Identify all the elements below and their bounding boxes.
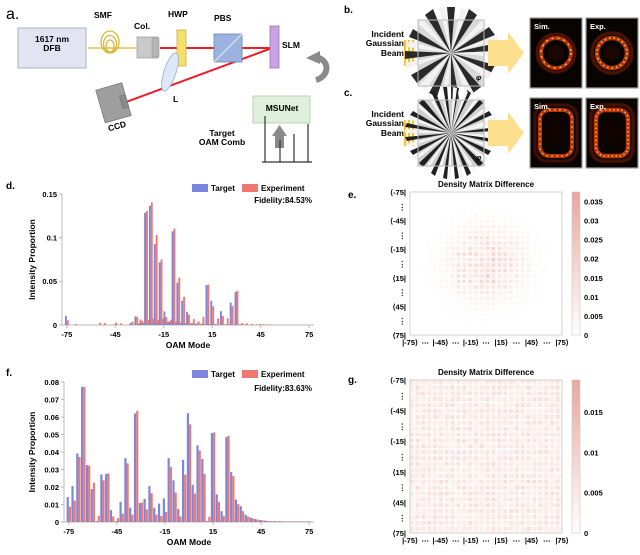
heatmap-cell bbox=[501, 313, 504, 316]
heatmap-cell bbox=[518, 471, 521, 474]
heatmap-cell bbox=[436, 492, 439, 495]
heatmap-cell bbox=[471, 313, 474, 316]
heatmap-cell bbox=[463, 236, 466, 239]
heatmap-cell bbox=[492, 512, 495, 515]
heatmap-cell bbox=[480, 406, 483, 409]
heatmap-cell bbox=[518, 433, 521, 436]
bar-experiment bbox=[217, 318, 219, 325]
heatmap-cell bbox=[442, 291, 445, 294]
heatmap-cell bbox=[463, 231, 466, 234]
heatmap-cell bbox=[477, 239, 480, 242]
heatmap-cell bbox=[448, 471, 451, 474]
heatmap-cell bbox=[471, 302, 474, 305]
heatmap-cell bbox=[416, 462, 419, 465]
heatmap-cell bbox=[533, 383, 536, 386]
heatmap-cell bbox=[483, 272, 486, 275]
heatmap-cell bbox=[445, 515, 448, 518]
heatmap-cell bbox=[460, 504, 463, 507]
heatmap-cell bbox=[471, 404, 474, 407]
heatmap-x-tick-label: |15⟩ bbox=[495, 338, 508, 347]
heatmap-cell bbox=[413, 424, 416, 427]
heatmap-cell bbox=[454, 524, 457, 527]
heatmap-cell bbox=[480, 415, 483, 418]
heatmap-cell bbox=[474, 515, 477, 518]
heatmap-cell bbox=[506, 436, 509, 439]
bar-target bbox=[113, 324, 115, 325]
heatmap-cell bbox=[509, 495, 512, 498]
heatmap-cell bbox=[425, 498, 428, 501]
heatmap-cell bbox=[509, 468, 512, 471]
heatmap-cell bbox=[451, 272, 454, 275]
heatmap-cell bbox=[416, 401, 419, 404]
heatmap-cell bbox=[530, 409, 533, 412]
heatmap-cell bbox=[477, 250, 480, 253]
heatmap-cell bbox=[454, 220, 457, 223]
heatmap-cell bbox=[466, 291, 469, 294]
heatmap-cell bbox=[483, 258, 486, 261]
heatmap-cell bbox=[542, 527, 545, 530]
heatmap-cell bbox=[457, 253, 460, 256]
heatmap-cell bbox=[439, 465, 442, 468]
heatmap-cell bbox=[425, 489, 428, 492]
heatmap-cell bbox=[474, 395, 477, 398]
heatmap-cell bbox=[451, 477, 454, 480]
heatmap-cell bbox=[501, 462, 504, 465]
heatmap-cell bbox=[410, 412, 413, 415]
bar-experiment bbox=[107, 473, 109, 522]
heatmap-cell bbox=[460, 412, 463, 415]
heatmap-cell bbox=[471, 225, 474, 228]
heatmap-cell bbox=[498, 504, 501, 507]
heatmap-cell bbox=[463, 225, 466, 228]
heatmap-cell bbox=[501, 477, 504, 480]
heatmap-cell bbox=[428, 258, 431, 261]
heatmap-cell bbox=[474, 392, 477, 395]
heatmap-cell bbox=[556, 386, 559, 389]
heatmap-cell bbox=[451, 418, 454, 421]
heatmap-cell bbox=[471, 228, 474, 231]
heatmap-cell bbox=[445, 430, 448, 433]
heatmap-cell bbox=[524, 269, 527, 272]
heatmap-cell bbox=[495, 272, 498, 275]
heatmap-cell bbox=[477, 451, 480, 454]
heatmap-cell bbox=[445, 521, 448, 524]
heatmap-cell bbox=[445, 468, 448, 471]
heatmap-cell bbox=[550, 471, 553, 474]
heatmap-cell bbox=[413, 451, 416, 454]
heatmap-cell bbox=[466, 220, 469, 223]
heatmap-cell bbox=[419, 442, 422, 445]
heatmap-cell bbox=[480, 291, 483, 294]
heatmap-cell bbox=[445, 233, 448, 236]
heatmap-cell bbox=[530, 255, 533, 258]
heatmap-cell bbox=[445, 283, 448, 286]
heatmap-cell bbox=[454, 492, 457, 495]
y-tick-label: 0 bbox=[55, 518, 59, 527]
heatmap-cell bbox=[501, 280, 504, 283]
heatmap-cell bbox=[430, 418, 433, 421]
heatmap-cell bbox=[524, 489, 527, 492]
heatmap-cell bbox=[468, 480, 471, 483]
heatmap-cell bbox=[539, 297, 542, 300]
heatmap-cell bbox=[451, 380, 454, 383]
bar-target bbox=[163, 498, 165, 522]
heatmap-cell bbox=[527, 404, 530, 407]
heatmap-cell bbox=[483, 220, 486, 223]
heatmap-cell bbox=[419, 498, 422, 501]
heatmap-cell bbox=[457, 244, 460, 247]
heatmap-cell bbox=[515, 501, 518, 504]
heatmap-cell bbox=[448, 512, 451, 515]
heatmap-cell bbox=[506, 512, 509, 515]
heatmap-cell bbox=[492, 209, 495, 212]
heatmap-cell bbox=[454, 389, 457, 392]
heatmap-cell bbox=[483, 209, 486, 212]
heatmap-cell bbox=[468, 220, 471, 223]
heatmap-y-tick-label: ⋮ bbox=[399, 202, 407, 211]
legend-label-experiment: Experiment bbox=[261, 370, 305, 379]
heatmap-cell bbox=[527, 406, 530, 409]
bar-target bbox=[110, 510, 112, 522]
heatmap-cell bbox=[509, 404, 512, 407]
heatmap-cell bbox=[542, 509, 545, 512]
heatmap-cell bbox=[492, 275, 495, 278]
heatmap-cell bbox=[506, 404, 509, 407]
heatmap-cell bbox=[454, 430, 457, 433]
heatmap-cell bbox=[451, 480, 454, 483]
heatmap-cell bbox=[501, 239, 504, 242]
heatmap-cell bbox=[498, 291, 501, 294]
heatmap-cell bbox=[442, 515, 445, 518]
heatmap-cell bbox=[439, 498, 442, 501]
heatmap-cell bbox=[524, 492, 527, 495]
heatmap-cell bbox=[536, 471, 539, 474]
heatmap-cell bbox=[533, 521, 536, 524]
heatmap-cell bbox=[419, 459, 422, 462]
heatmap-cell bbox=[492, 477, 495, 480]
heatmap-cell bbox=[524, 498, 527, 501]
heatmap-cell bbox=[439, 231, 442, 234]
heatmap-cell bbox=[413, 504, 416, 507]
heatmap-cell bbox=[533, 404, 536, 407]
heatmap-cell bbox=[454, 465, 457, 468]
heatmap-cell bbox=[550, 457, 553, 460]
heatmap-cell bbox=[445, 383, 448, 386]
heatmap-cell bbox=[410, 468, 413, 471]
bar-target bbox=[142, 324, 144, 325]
heatmap-cell bbox=[463, 489, 466, 492]
heatmap-cell bbox=[509, 225, 512, 228]
heatmap-cell bbox=[466, 451, 469, 454]
heatmap-cell bbox=[468, 398, 471, 401]
heatmap-cell bbox=[451, 430, 454, 433]
heatmap-cell bbox=[527, 392, 530, 395]
heatmap-cell bbox=[544, 404, 547, 407]
heatmap-cell bbox=[524, 427, 527, 430]
heatmap-cell bbox=[492, 474, 495, 477]
heatmap-cell bbox=[480, 266, 483, 269]
bar-experiment bbox=[256, 324, 258, 325]
heatmap-cell bbox=[433, 495, 436, 498]
heatmap-cell bbox=[466, 395, 469, 398]
heatmap-cell bbox=[486, 294, 489, 297]
heatmap-cell bbox=[509, 451, 512, 454]
heatmap-cell bbox=[454, 236, 457, 239]
heatmap-cell bbox=[439, 392, 442, 395]
heatmap-cell bbox=[515, 264, 518, 267]
bar-experiment bbox=[276, 521, 278, 522]
heatmap-cell bbox=[468, 427, 471, 430]
heatmap-cell bbox=[509, 253, 512, 256]
heatmap-cell bbox=[477, 299, 480, 302]
heatmap-cell bbox=[480, 214, 483, 217]
x-tick-label: 45 bbox=[257, 330, 265, 339]
heatmap-cell bbox=[468, 433, 471, 436]
heatmap-cell bbox=[463, 275, 466, 278]
heatmap-cell bbox=[445, 308, 448, 311]
heatmap-cell bbox=[527, 498, 530, 501]
heatmap-cell bbox=[454, 297, 457, 300]
bar-experiment bbox=[165, 512, 167, 522]
heatmap-cell bbox=[466, 498, 469, 501]
heatmap-cell bbox=[509, 521, 512, 524]
heatmap-cell bbox=[474, 291, 477, 294]
heatmap-cell bbox=[413, 524, 416, 527]
heatmap-cell bbox=[495, 498, 498, 501]
heatmap-cell bbox=[542, 427, 545, 430]
heatmap-cell bbox=[483, 244, 486, 247]
heatmap-cell bbox=[498, 395, 501, 398]
heatmap-cell bbox=[495, 474, 498, 477]
heatmap-cell bbox=[471, 515, 474, 518]
heatmap-cell bbox=[544, 501, 547, 504]
heatmap-cell bbox=[477, 277, 480, 280]
heatmap-cell bbox=[504, 507, 507, 510]
heatmap-cell bbox=[521, 512, 524, 515]
heatmap-cell bbox=[460, 421, 463, 424]
heatmap-cell bbox=[466, 445, 469, 448]
heatmap-cell bbox=[460, 459, 463, 462]
heatmap-cell bbox=[550, 258, 553, 261]
heatmap-cell bbox=[501, 231, 504, 234]
heatmap-cell bbox=[504, 324, 507, 327]
heatmap-cell bbox=[463, 480, 466, 483]
bar-experiment bbox=[223, 516, 225, 522]
heatmap-cell bbox=[454, 433, 457, 436]
heatmap-cell bbox=[474, 412, 477, 415]
heatmap-cell bbox=[445, 471, 448, 474]
heatmap-cell bbox=[430, 527, 433, 530]
heatmap-cell bbox=[509, 486, 512, 489]
heatmap-cell bbox=[492, 380, 495, 383]
heatmap-cell bbox=[492, 225, 495, 228]
bar-target bbox=[249, 517, 251, 522]
heatmap-cell bbox=[460, 392, 463, 395]
heatmap-cell bbox=[501, 220, 504, 223]
heatmap-cell bbox=[463, 209, 466, 212]
heatmap-cell bbox=[527, 386, 530, 389]
heatmap-cell bbox=[471, 214, 474, 217]
heatmap-cell bbox=[536, 247, 539, 250]
heatmap-cell bbox=[428, 512, 431, 515]
heatmap-cell bbox=[460, 495, 463, 498]
heatmap-cell bbox=[439, 299, 442, 302]
heatmap-cell bbox=[489, 272, 492, 275]
heatmap-cell bbox=[512, 239, 515, 242]
heatmap-cell bbox=[428, 386, 431, 389]
heatmap-cell bbox=[539, 436, 542, 439]
heatmap-cell bbox=[448, 442, 451, 445]
heatmap-cell bbox=[474, 250, 477, 253]
heatmap-cell bbox=[480, 474, 483, 477]
heatmap-cell bbox=[486, 404, 489, 407]
heatmap-cell bbox=[495, 415, 498, 418]
heatmap-cell bbox=[428, 451, 431, 454]
heatmap-cell bbox=[547, 442, 550, 445]
heatmap-cell bbox=[457, 406, 460, 409]
heatmap-cell bbox=[468, 409, 471, 412]
heatmap-cell bbox=[492, 433, 495, 436]
heatmap-cell bbox=[498, 471, 501, 474]
heatmap-cell bbox=[504, 233, 507, 236]
heatmap-cell bbox=[489, 244, 492, 247]
heatmap-cell bbox=[486, 225, 489, 228]
y-tick-label: 0.15 bbox=[42, 190, 57, 199]
heatmap-cell bbox=[512, 474, 515, 477]
heatmap-cell bbox=[477, 445, 480, 448]
heatmap-cell bbox=[457, 255, 460, 258]
colorbar-tick-label: 0.025 bbox=[584, 236, 603, 245]
heatmap-cell bbox=[512, 409, 515, 412]
heatmap-cell bbox=[527, 222, 530, 225]
heatmap-cell bbox=[466, 442, 469, 445]
heatmap-cell bbox=[483, 442, 486, 445]
bar-experiment bbox=[67, 320, 69, 325]
heatmap-cell bbox=[553, 480, 556, 483]
heatmap-cell bbox=[544, 421, 547, 424]
heatmap-cell bbox=[454, 512, 457, 515]
heatmap-cell bbox=[474, 483, 477, 486]
heatmap-cell bbox=[492, 418, 495, 421]
heatmap-cell bbox=[521, 225, 524, 228]
heatmap-cell bbox=[509, 269, 512, 272]
heatmap-cell bbox=[457, 392, 460, 395]
heatmap-cell bbox=[489, 247, 492, 250]
heatmap-cell bbox=[512, 507, 515, 510]
bar-experiment bbox=[151, 202, 153, 325]
heatmap-cell bbox=[445, 272, 448, 275]
heatmap-cell bbox=[492, 302, 495, 305]
heatmap-cell bbox=[527, 247, 530, 250]
heatmap-cell bbox=[463, 266, 466, 269]
heatmap-cell bbox=[527, 299, 530, 302]
heatmap-cell bbox=[480, 302, 483, 305]
heatmap-cell bbox=[495, 524, 498, 527]
heatmap-cell bbox=[451, 214, 454, 217]
heatmap-cell bbox=[457, 272, 460, 275]
heatmap-cell bbox=[492, 297, 495, 300]
y-tick-label: 0.07 bbox=[44, 395, 59, 404]
heatmap-cell bbox=[448, 392, 451, 395]
heatmap-cell bbox=[480, 471, 483, 474]
heatmap-cell bbox=[524, 272, 527, 275]
heatmap-cell bbox=[512, 424, 515, 427]
heatmap-cell bbox=[477, 275, 480, 278]
heatmap-cell bbox=[498, 392, 501, 395]
heatmap-cell bbox=[498, 454, 501, 457]
heatmap-cell bbox=[454, 392, 457, 395]
heatmap-cell bbox=[515, 255, 518, 258]
heatmap-cell bbox=[544, 380, 547, 383]
heatmap-cell bbox=[463, 386, 466, 389]
heatmap-cell bbox=[504, 459, 507, 462]
heatmap-cell bbox=[457, 236, 460, 239]
heatmap-cell bbox=[498, 305, 501, 308]
heatmap-cell bbox=[425, 433, 428, 436]
heatmap-cell bbox=[410, 436, 413, 439]
heatmap-cell bbox=[533, 288, 536, 291]
heatmap-cell bbox=[466, 261, 469, 264]
heatmap-y-tick-label: ⋮ bbox=[399, 391, 407, 400]
heatmap-y-tick-label: ⟨45| bbox=[393, 302, 406, 311]
heatmap-cell bbox=[504, 302, 507, 305]
heatmap-cell bbox=[486, 209, 489, 212]
heatmap-cell bbox=[419, 406, 422, 409]
heatmap-cell bbox=[463, 409, 466, 412]
heatmap-cell bbox=[466, 297, 469, 300]
heatmap-cell bbox=[518, 409, 521, 412]
heatmap-cell bbox=[509, 228, 512, 231]
heatmap-cell bbox=[518, 512, 521, 515]
bar-target bbox=[212, 324, 214, 325]
bar-experiment bbox=[179, 516, 181, 522]
heatmap-cell bbox=[495, 507, 498, 510]
heatmap-cell bbox=[506, 255, 509, 258]
heatmap-cell bbox=[486, 261, 489, 264]
heatmap-cell bbox=[542, 269, 545, 272]
heatmap-cell bbox=[509, 239, 512, 242]
heatmap-cell bbox=[492, 291, 495, 294]
heatmap-cell bbox=[457, 203, 460, 206]
heatmap-cell bbox=[428, 236, 431, 239]
heatmap-cell bbox=[466, 409, 469, 412]
bars-group bbox=[65, 202, 271, 325]
bar-target bbox=[124, 458, 126, 522]
heatmap-cell bbox=[547, 507, 550, 510]
heatmap-cell bbox=[468, 316, 471, 319]
heatmap-cell bbox=[486, 392, 489, 395]
heatmap-cell bbox=[445, 527, 448, 530]
heatmap-cell bbox=[515, 398, 518, 401]
heatmap-cell bbox=[498, 308, 501, 311]
heatmap-cell bbox=[553, 477, 556, 480]
heatmap-cell bbox=[512, 225, 515, 228]
heatmap-cell bbox=[498, 518, 501, 521]
heatmap-cell bbox=[486, 236, 489, 239]
heatmap-cell bbox=[506, 418, 509, 421]
heatmap-cell bbox=[474, 294, 477, 297]
heatmap-cell bbox=[433, 247, 436, 250]
heatmap-cell bbox=[477, 305, 480, 308]
heatmap-cell bbox=[509, 507, 512, 510]
heatmap-cell bbox=[536, 386, 539, 389]
heatmap-cell bbox=[474, 228, 477, 231]
heatmap-cell bbox=[492, 424, 495, 427]
heatmap-cell bbox=[433, 524, 436, 527]
heatmap-cell bbox=[433, 383, 436, 386]
heatmap-cell bbox=[436, 404, 439, 407]
heatmap-cell bbox=[527, 280, 530, 283]
